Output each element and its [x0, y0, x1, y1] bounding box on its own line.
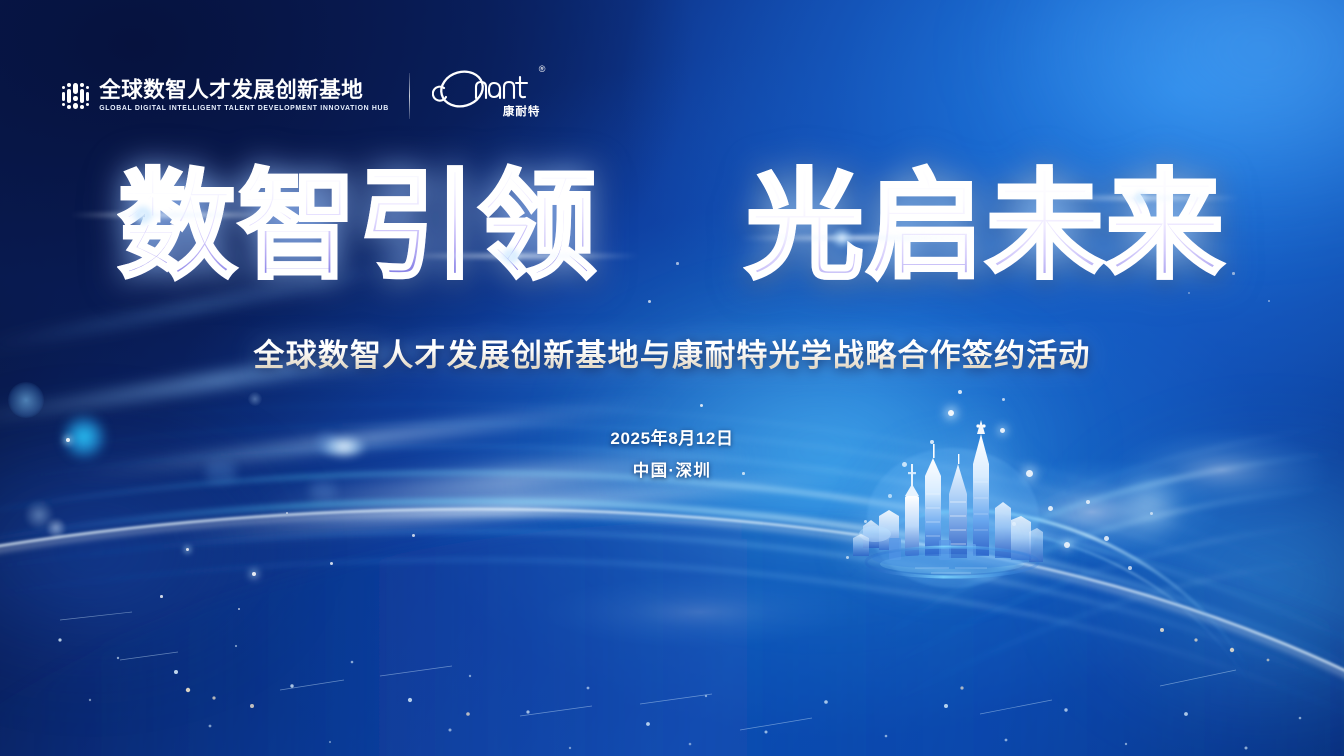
shenzhen-skyline-illustration [845, 398, 1060, 593]
event-meta: 2025年8月12日 中国·深圳 [0, 430, 1344, 480]
event-banner: 全球数智人才发展创新基地 GLOBAL DIGITAL INTELLIGENT … [0, 0, 1344, 756]
main-title: 数智引领 光启未来 [0, 168, 1344, 286]
brand-text-block: 全球数智人才发展创新基地 GLOBAL DIGITAL INTELLIGENT … [99, 79, 389, 113]
brand-name-en: GLOBAL DIGITAL INTELLIGENT TALENT DEVELO… [99, 106, 389, 113]
header-logos: 全球数智人才发展创新基地 GLOBAL DIGITAL INTELLIGENT … [62, 66, 542, 126]
data-dots-logo-icon [62, 79, 89, 113]
conant-logo: ® 康耐特 [432, 66, 542, 126]
title-right: 光启未来 [746, 168, 1226, 286]
title-left: 数智引领 [118, 168, 598, 286]
registered-mark: ® [539, 64, 546, 74]
event-date: 2025年8月12日 [0, 430, 1344, 447]
event-subtitle: 全球数智人才发展创新基地与康耐特光学战略合作签约活动 [0, 330, 1344, 375]
conant-name-cn: 康耐特 [503, 103, 541, 119]
logo-divider [409, 73, 411, 119]
brand-name-cn: 全球数智人才发展创新基地 [99, 79, 389, 102]
event-location: 中国·深圳 [0, 463, 1344, 480]
